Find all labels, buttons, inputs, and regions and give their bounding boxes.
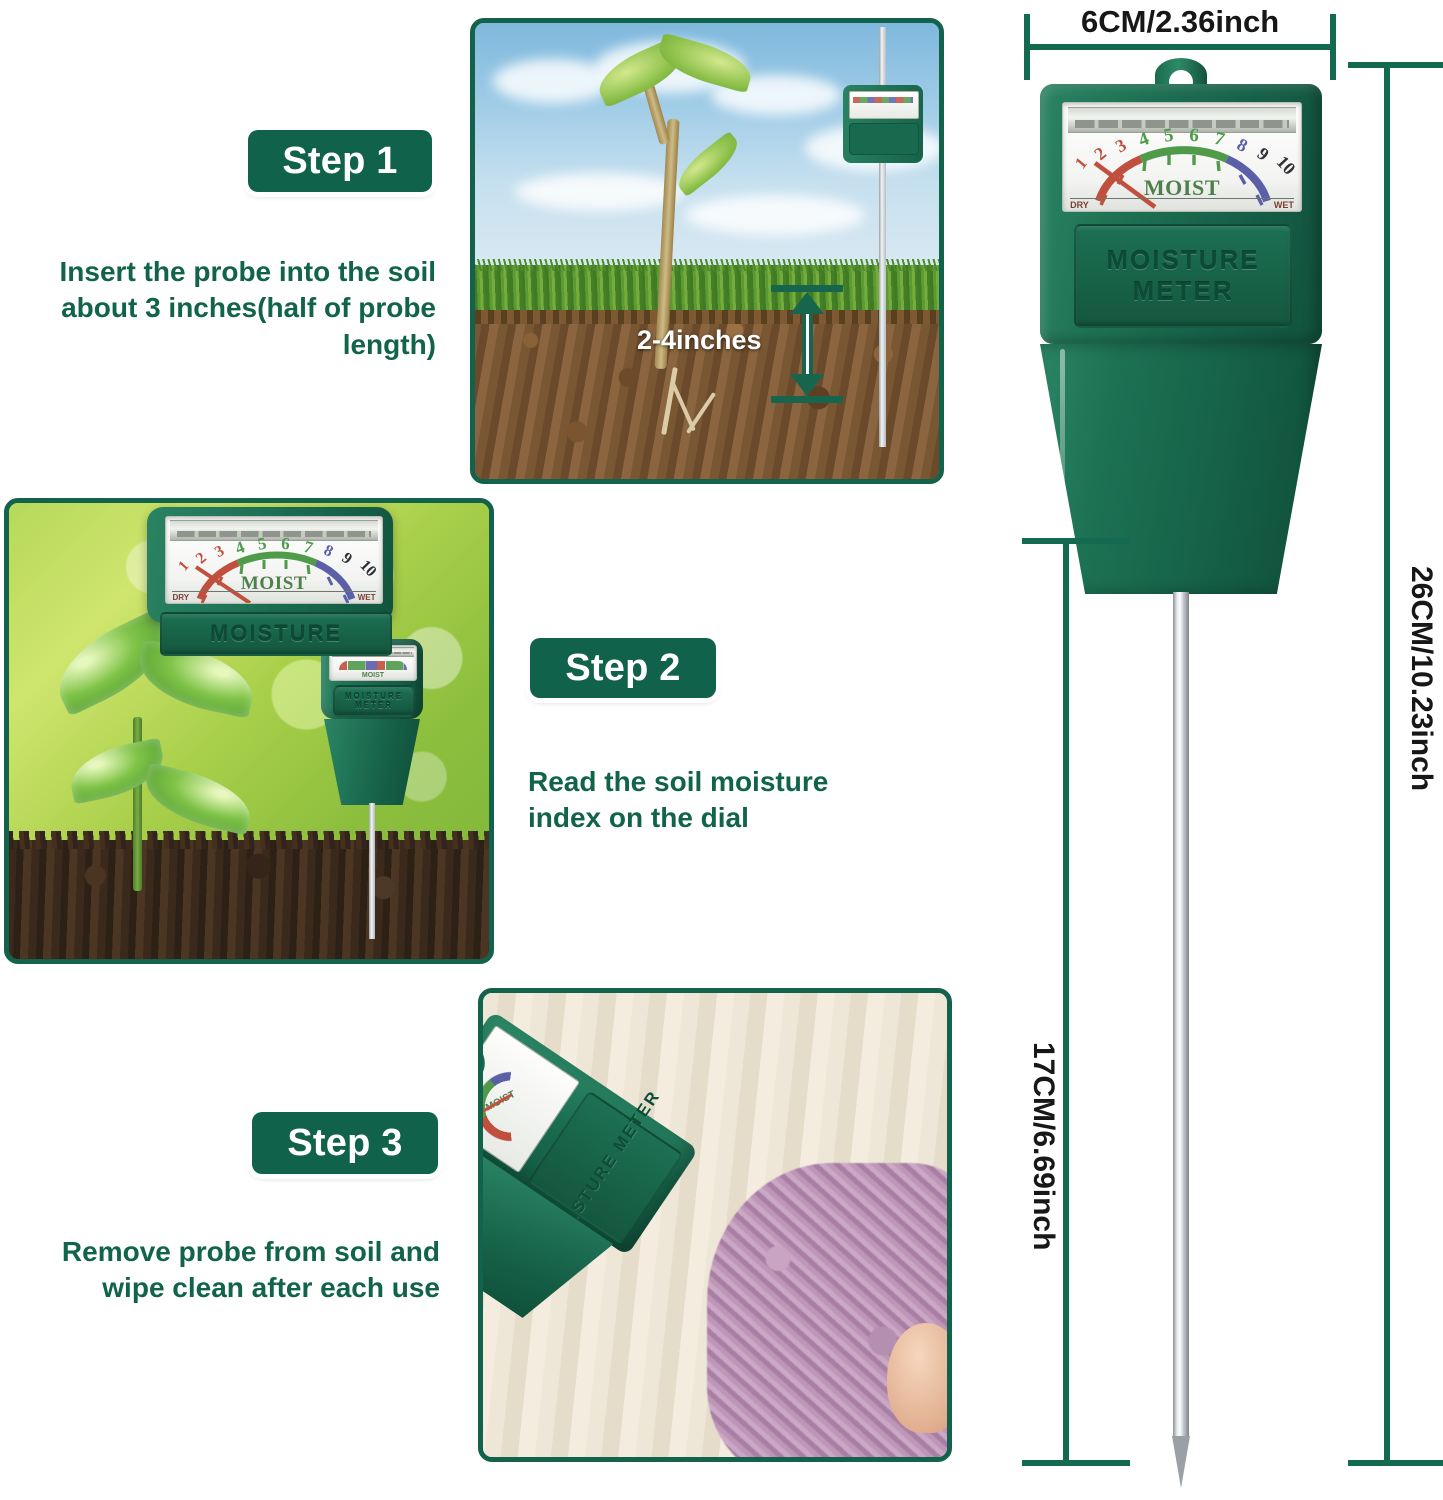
step-3-caption: Remove probe from soil and wipe clean af… <box>34 1234 440 1307</box>
dimension-top-cap <box>771 285 843 292</box>
scene-meter: MOIST MOISTURE METER <box>321 639 423 939</box>
product-name-line2: METER <box>1133 276 1234 307</box>
scene-meter-probe <box>369 803 375 939</box>
dial-tick-7: 7 <box>301 537 315 559</box>
product-dial-tick-4: 4 <box>1136 128 1152 152</box>
product-dial-tick-3: 3 <box>1112 135 1130 158</box>
probe-length-top-cap <box>1022 538 1130 544</box>
dial-wet-label: WET <box>358 593 376 602</box>
grass-strip <box>475 265 939 315</box>
inserted-probe-dial <box>849 91 919 119</box>
dial-tick-6: 6 <box>281 534 291 555</box>
step-2-badge: Step 2 <box>530 638 716 698</box>
magnified-dial-window: 1 2 3 4 5 6 7 8 9 10 MOIST DRY WET <box>165 516 383 604</box>
probe-length-bottom-cap <box>1022 1460 1130 1466</box>
product-dial-dry-label: DRY <box>1070 200 1089 210</box>
product-dial-glass-bar <box>1068 107 1297 133</box>
step-1-badge-label: Step 1 <box>282 140 397 183</box>
scene-meter-scale-marks <box>339 661 408 670</box>
product-probe-tip <box>1172 1436 1190 1488</box>
cloud-shape <box>515 173 685 211</box>
dial-tick-3: 3 <box>212 543 228 563</box>
product-probe <box>1173 592 1189 1440</box>
magnified-dial-footer: DRY WET <box>172 591 375 603</box>
arrow-up-icon <box>790 292 824 314</box>
arrow-down-icon <box>790 374 824 396</box>
magnified-meter-name-plate: MOISTURE <box>160 612 392 656</box>
product-name-plate: MOISTURE METER <box>1074 224 1292 328</box>
dial-tick-8: 8 <box>321 542 336 562</box>
scene-meter-name-line2: METER <box>355 701 393 710</box>
product-dial-window: 1 2 3 4 5 6 7 8 9 10 MOIST DRY WET <box>1062 102 1302 212</box>
magnified-dial-numbers: 1 2 3 4 5 6 7 8 9 10 <box>166 539 382 565</box>
width-dimension-label: 6CM/2.36inch <box>1081 4 1279 40</box>
probe-length-dimension-line <box>1063 538 1069 1466</box>
probe-length-dimension-label: 17CM/6.69inch <box>1026 1042 1060 1250</box>
width-dimension-line <box>1024 44 1336 50</box>
product-dial-numbers: 1 2 3 4 5 6 7 8 9 10 <box>1063 131 1301 161</box>
scene-meter-body <box>324 719 420 805</box>
scene-meter-moist-label: MOIST <box>330 672 416 679</box>
total-length-dimension-label: 26CM/10.23inch <box>1404 566 1438 791</box>
product-dial-wet-label: WET <box>1274 200 1294 210</box>
cloud-shape <box>685 195 865 235</box>
dimension-bottom-cap <box>771 396 843 403</box>
inserted-probe-plate <box>849 123 919 155</box>
product-dial-tick-8: 8 <box>1233 134 1251 157</box>
scene-meter-name-line1: MOISTURE <box>345 692 403 701</box>
magnified-meter-name-line1: MOISTURE <box>210 621 342 647</box>
product-dial-footer: DRY WET <box>1070 198 1294 211</box>
infographic-canvas: Step 1 Insert the probe into the soil ab… <box>0 0 1443 1500</box>
product-meter: 1 2 3 4 5 6 7 8 9 10 MOIST DRY WET MOIST… <box>1040 58 1322 1478</box>
total-length-dimension-line <box>1384 62 1390 1466</box>
step-3-photo: MOIST MOISTURE METER <box>478 988 952 1462</box>
step-1-photo: 2-4inches <box>470 18 944 484</box>
depth-dimension-annotation <box>771 285 843 403</box>
width-dimension-right-cap <box>1330 14 1336 80</box>
step-2-caption: Read the soil moisture index on the dial <box>528 764 898 837</box>
product-body <box>1040 344 1322 594</box>
step-1-badge: Step 1 <box>248 130 432 192</box>
dial-dry-label: DRY <box>172 593 189 602</box>
depth-dimension-label: 2-4inches <box>637 325 762 356</box>
dimension-shaft <box>802 314 813 374</box>
step-3-badge-label: Step 3 <box>287 1122 402 1165</box>
step-2-badge-label: Step 2 <box>565 647 680 690</box>
width-dimension-left-cap <box>1024 14 1030 80</box>
step-3-badge: Step 3 <box>252 1112 438 1174</box>
magnified-dial-glass-bar <box>170 520 377 541</box>
product-dial-tick-7: 7 <box>1212 128 1227 152</box>
total-length-top-cap <box>1348 62 1443 68</box>
scene-meter-name-plate: MOISTURE METER <box>333 685 415 717</box>
step-1-caption: Insert the probe into the soil about 3 i… <box>36 254 436 363</box>
thumb-finger <box>887 1323 952 1433</box>
inserted-probe-dial-marks <box>853 97 913 103</box>
total-length-bottom-cap <box>1348 1460 1443 1466</box>
product-dial-tick-6: 6 <box>1189 125 1200 148</box>
product-name-line1: MOISTURE <box>1106 245 1259 276</box>
dial-tick-4: 4 <box>233 538 248 560</box>
